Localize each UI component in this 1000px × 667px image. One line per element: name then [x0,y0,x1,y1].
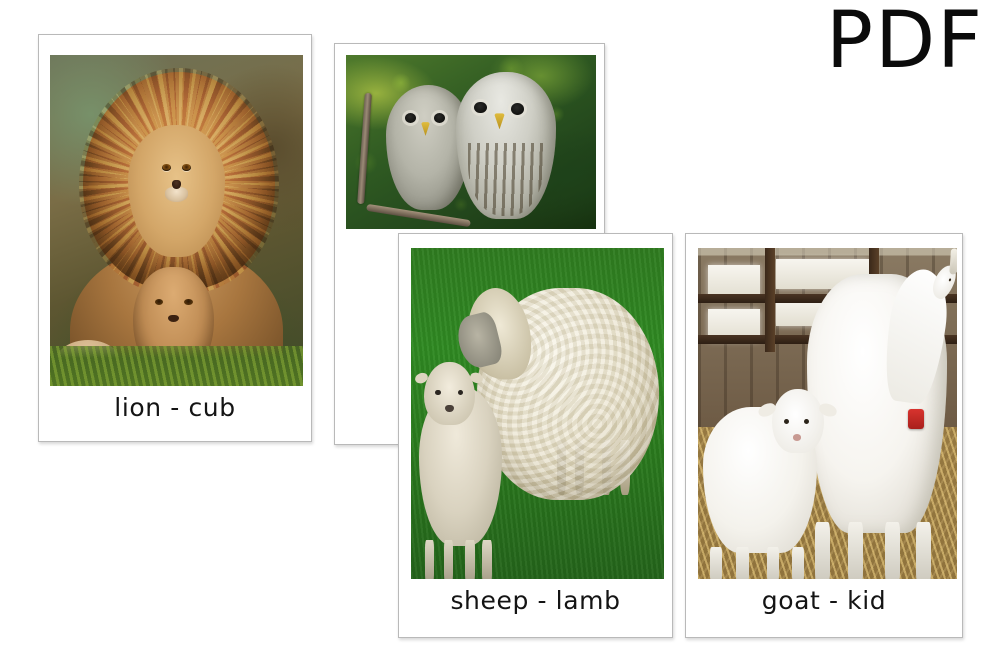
lion-nose [172,180,181,189]
goat-legs [812,522,938,579]
nomenclature-card-sheep[interactable]: sheep - lamb [398,233,673,638]
goat-eye [948,278,951,281]
owl-adult [456,72,556,218]
owl-adult-eye-left [474,102,487,114]
goat-ear-tag [908,409,924,429]
pdf-watermark-label: PDF [826,2,984,80]
barn-post [765,248,775,352]
owlet-eye-right [434,113,445,123]
lion-face [128,125,224,257]
cub-eye-right [184,299,193,305]
kid-head [772,389,824,453]
barn-window [708,265,760,298]
owlet-eye-left [405,113,416,123]
lion-photo [50,55,303,386]
card-caption-goat: goat - kid [686,586,962,615]
lamb-head [424,362,476,426]
owl-adult-eye-right [511,103,524,115]
card-caption-lion: lion - cub [39,393,311,422]
kid-legs [708,547,811,579]
lamb-legs [424,540,496,579]
nomenclature-card-goat[interactable]: goat - kid [685,233,963,638]
sheep-photo [411,248,664,579]
card-set-canvas: PDF lio [0,0,1000,667]
ewe-legs [553,440,637,495]
owl-adult-beak [494,113,505,129]
lamb-body [419,387,502,546]
lamb-nose [445,405,453,413]
owlet-beak [421,122,430,136]
kid-eye-left [784,419,789,424]
goat-kid-body [703,407,817,553]
kid-nose [793,434,801,440]
nomenclature-card-lion[interactable]: lion - cub [38,34,312,442]
cub-eye-left [155,299,164,305]
lamb-eye-right [458,390,464,396]
goat-photo [698,248,957,579]
card-caption-sheep: sheep - lamb [399,586,672,615]
goat-neck [879,266,953,407]
lion-muzzle [165,187,188,202]
owl-photo [346,55,596,229]
lion-eye-right [182,164,191,171]
lion-grass [50,346,303,386]
lion-eye-left [162,164,171,171]
lamb-eye-left [435,390,441,396]
cub-nose [168,315,179,322]
kid-eye-right [804,419,809,424]
